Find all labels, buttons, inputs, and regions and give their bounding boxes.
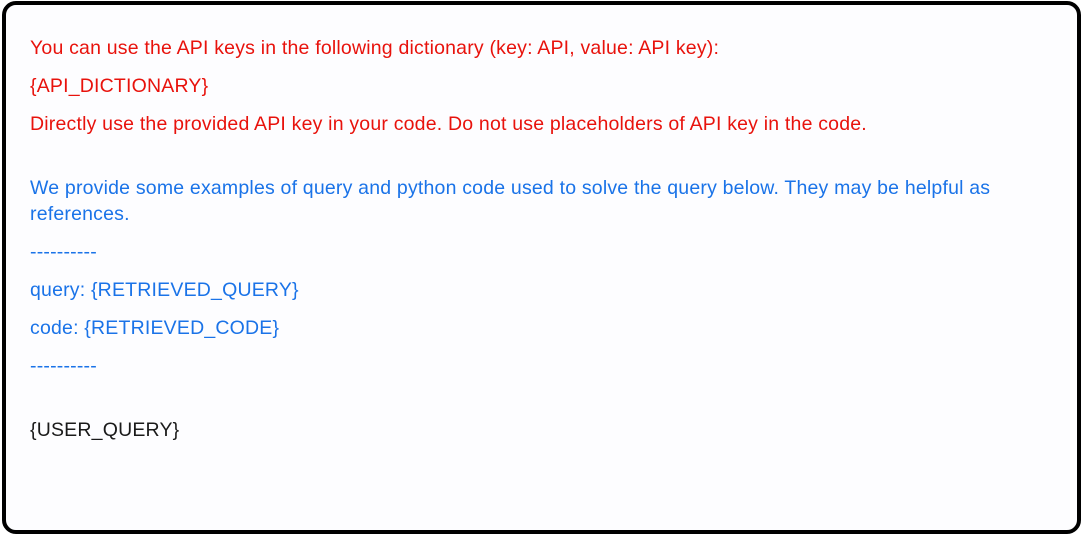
prompt-content: You can use the API keys in the followin… <box>6 5 1077 443</box>
section-spacer <box>30 137 1051 175</box>
spacer <box>30 341 1051 353</box>
spacer <box>30 303 1051 315</box>
separator-bottom: ---------- <box>30 353 1051 379</box>
user-query-placeholder: {USER_QUERY} <box>30 417 1051 443</box>
spacer <box>30 265 1051 277</box>
api-dictionary-placeholder: {API_DICTIONARY} <box>30 73 1051 99</box>
spacer <box>30 61 1051 73</box>
spacer <box>30 227 1051 239</box>
examples-block: We provide some examples of query and py… <box>30 175 1051 379</box>
api-intro-text: You can use the API keys in the followin… <box>30 35 1042 61</box>
retrieved-code-line: code: {RETRIEVED_CODE} <box>30 315 1051 341</box>
section-spacer <box>30 379 1051 417</box>
separator-top: ---------- <box>30 239 1051 265</box>
user-query-block: {USER_QUERY} <box>30 417 1051 443</box>
spacer <box>30 99 1051 111</box>
retrieved-query-line: query: {RETRIEVED_QUERY} <box>30 277 1051 303</box>
examples-intro-text: We provide some examples of query and py… <box>30 175 1042 227</box>
prompt-template-card: You can use the API keys in the followin… <box>2 1 1081 534</box>
api-instructions-block: You can use the API keys in the followin… <box>30 35 1051 137</box>
api-usage-instruction-text: Directly use the provided API key in you… <box>30 111 1042 137</box>
